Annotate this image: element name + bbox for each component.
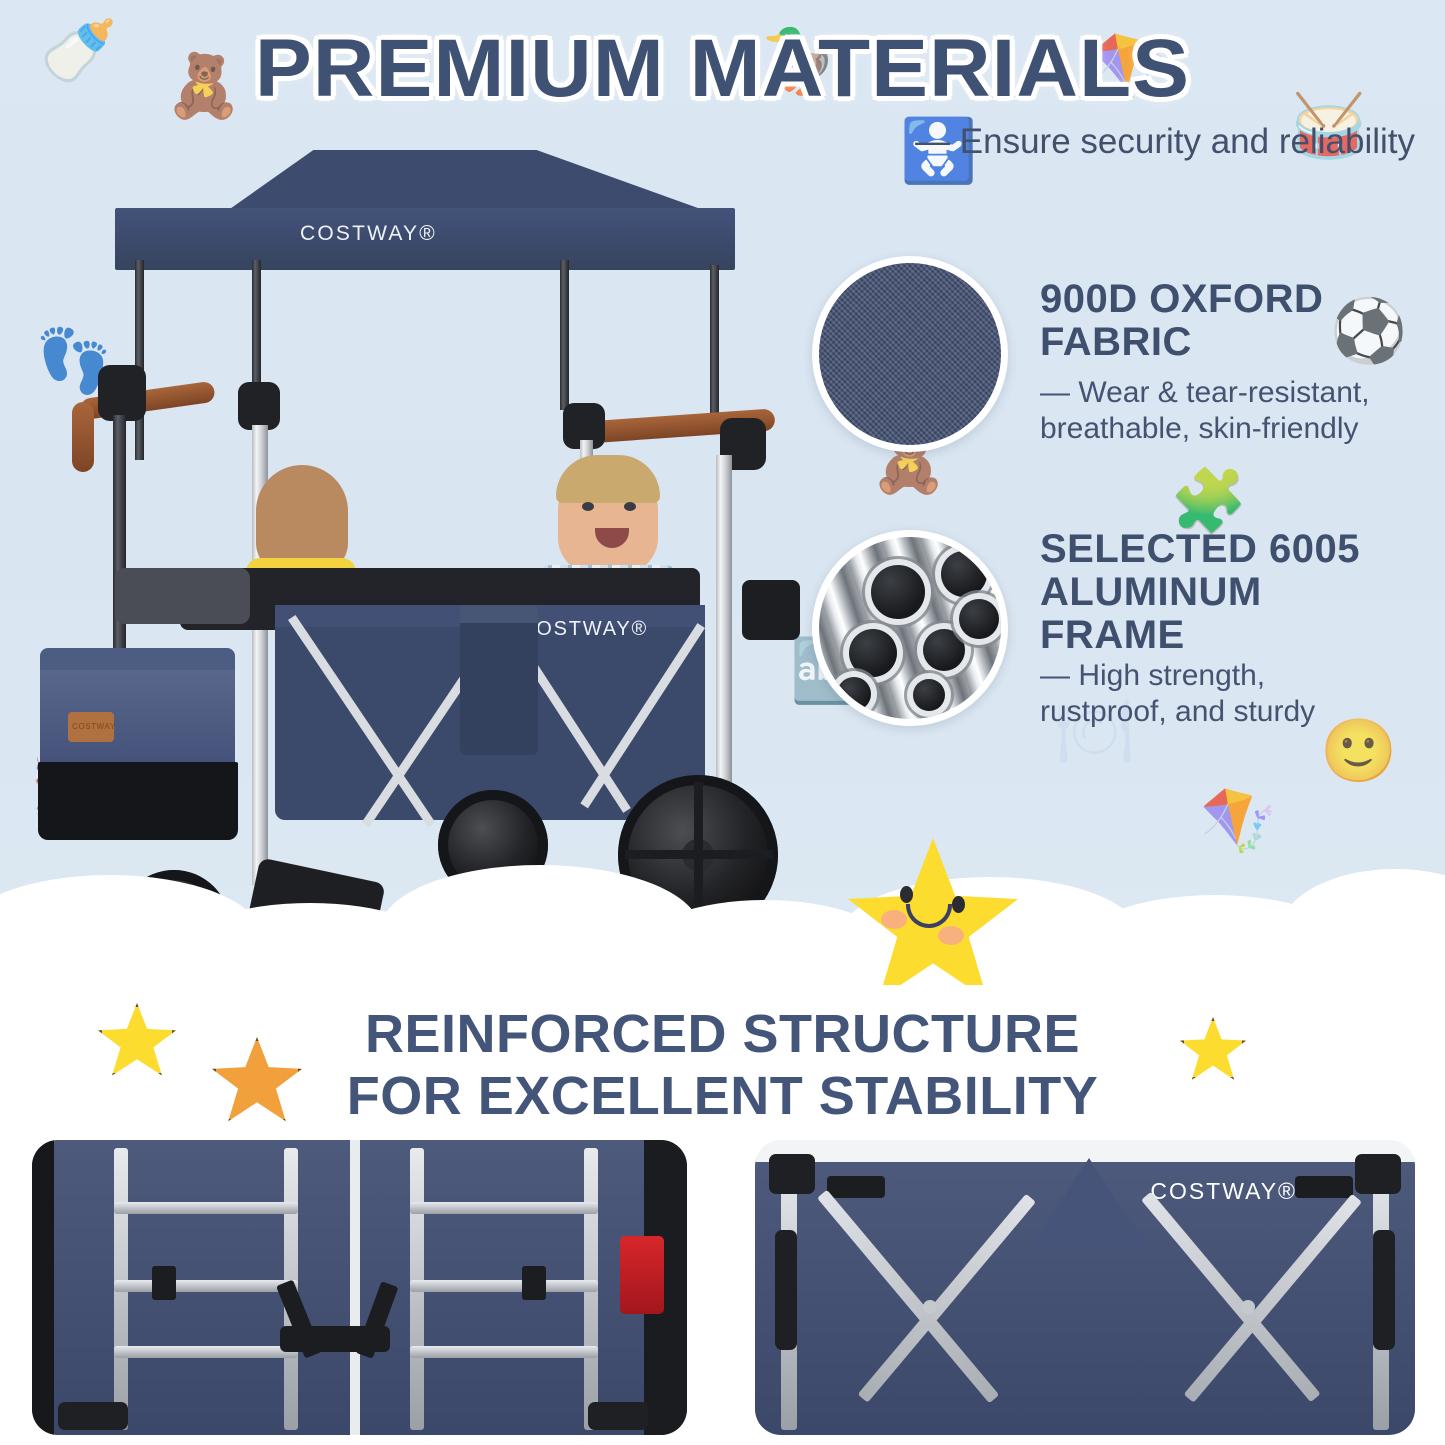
corner-foot-left (58, 1402, 128, 1430)
star-mascot (848, 838, 1018, 985)
tube-hole-4 (923, 629, 965, 671)
bottom-heading-line2: FOR EXCELLENT STABILITY (347, 1066, 1099, 1126)
child-girl-head (256, 465, 348, 573)
canopy-brand-logo: COSTWAY® (300, 222, 437, 246)
feature-2-title-line1: SELECTED 6005 (1040, 527, 1360, 571)
frame-post-far-left (113, 415, 126, 670)
oxford-fabric-swatch-icon (812, 256, 1008, 452)
bubble (122, 948, 160, 985)
feature-1-desc-line1: — Wear & tear-resistant, (1040, 376, 1370, 409)
joint-left-mid (238, 382, 280, 430)
star-mascot-cheek-left (881, 910, 907, 929)
bubble (655, 922, 685, 952)
canopy-pole-right2 (560, 260, 569, 410)
feature-2-desc-line2: rustproof, and sturdy (1040, 695, 1315, 728)
product-image-stroller-wagon: COSTWAY® (20, 150, 820, 890)
x-brace-rivet-left (923, 1300, 937, 1314)
buckle-right (1295, 1176, 1353, 1198)
aluminum-tubes-icon (812, 530, 1008, 726)
frame-post-right (716, 455, 732, 785)
star-mascot-eye-left (900, 886, 913, 903)
bg-icon-face: 🙂 (1320, 720, 1397, 782)
page-title: PREMIUM MATERIALS (0, 22, 1445, 116)
panel-brand-logo: COSTWAY® (1150, 1178, 1297, 1205)
leather-tag-text: COSTWAY (72, 722, 116, 731)
feature-2-desc: — High strength, rustproof, and sturdy (1040, 658, 1315, 730)
corner-cap-top-right (1355, 1154, 1401, 1194)
bottom-heading-wrap: REINFORCED STRUCTURE FOR EXCELLENT STABI… (0, 1003, 1445, 1127)
child-boy-hair (556, 455, 660, 503)
panel-top-bg (755, 1140, 1415, 1162)
feature-2-title: SELECTED 6005 ALUMINUM FRAME (1040, 528, 1360, 658)
front-pocket-flap (460, 605, 538, 623)
bubble (1406, 948, 1434, 976)
feature-2-title-line3: FRAME (1040, 613, 1185, 657)
post-sleeve-left (775, 1230, 797, 1350)
feature-1-desc-line2: breathable, skin-friendly (1040, 412, 1359, 445)
bubble (358, 935, 392, 969)
strap-loop-right (522, 1266, 546, 1300)
child-boy-eye-left (582, 502, 594, 511)
cup-holder (742, 580, 800, 640)
bottom-heading: REINFORCED STRUCTURE FOR EXCELLENT STABI… (0, 1003, 1445, 1127)
bubble (1180, 925, 1228, 973)
handle-grip-left (72, 402, 94, 472)
red-release-clip (620, 1236, 664, 1314)
hero-title-wrap: PREMIUM MATERIALS (0, 22, 1445, 116)
ladder-rung-1 (114, 1202, 298, 1214)
corner-foot-right (588, 1402, 648, 1430)
side-basket-rim (40, 648, 235, 670)
detail-panel-folded-frame (32, 1140, 687, 1435)
feature-2-desc-line1: — High strength, (1040, 659, 1265, 692)
detail-panel-x-brace: COSTWAY® (755, 1140, 1415, 1435)
panel-edge-left (32, 1140, 54, 1435)
strap-buckle (280, 1326, 390, 1352)
post-sleeve-right (1373, 1230, 1395, 1350)
tube-hole-7 (913, 679, 945, 711)
wagon-body-brand-logo: COSTWAY® (520, 618, 648, 641)
bg-icon-ball: ⚽ (1330, 300, 1407, 362)
feature-1-title-line1: 900D OXFORD (1040, 277, 1323, 321)
feature-1-title-line2: FABRIC (1040, 320, 1192, 364)
feature-1-desc: — Wear & tear-resistant, breathable, ski… (1040, 375, 1370, 447)
star-mascot-eye-right (952, 896, 965, 913)
canopy-pole-right (710, 265, 719, 430)
buckle-left (827, 1176, 885, 1198)
tube-hole-1 (871, 565, 925, 619)
cloud-decoration (0, 825, 1445, 985)
front-pocket (460, 615, 538, 755)
seat-pad (115, 568, 250, 624)
panel-center-gap (350, 1140, 360, 1435)
strap-loop-left (152, 1266, 176, 1300)
x-brace-rivet-right (1241, 1300, 1255, 1314)
bg-icon-blocks: 🧩 (1170, 470, 1247, 532)
feature-2-title-line2: ALUMINUM (1040, 570, 1262, 614)
feature-1-title: 900D OXFORD FABRIC (1040, 278, 1323, 364)
hero-section: 🍼 🧸 🦆 🚼 🪁 🥁 ⚽ 🧸 🧩 🔤 🍽 🙂 🪁 👣 🎠 🎈 ✦ PREMIU… (0, 0, 1445, 985)
ladder-rung-3 (114, 1346, 298, 1358)
bubble (540, 912, 602, 974)
bubble (1318, 903, 1370, 955)
star-mascot-cheek-right (938, 926, 964, 945)
ladder-rung-2 (114, 1280, 298, 1292)
tube-hole-6 (837, 677, 871, 711)
tube-hole-5 (959, 599, 999, 639)
tube-hole-3 (849, 629, 897, 677)
side-storage-basket (40, 655, 235, 767)
corner-cap-top-left (769, 1154, 815, 1194)
bubble (1018, 905, 1054, 941)
joint-left-top (98, 365, 146, 421)
bottom-heading-line1: REINFORCED STRUCTURE (365, 1004, 1080, 1064)
canopy-pole-left (135, 260, 144, 460)
ladder-rung-5 (410, 1280, 598, 1292)
tube-hole-2 (941, 551, 987, 597)
ladder-rung-4 (410, 1202, 598, 1214)
child-boy-eye-right (624, 502, 636, 511)
bubble (160, 905, 216, 961)
ladder-rung-6 (410, 1346, 598, 1358)
